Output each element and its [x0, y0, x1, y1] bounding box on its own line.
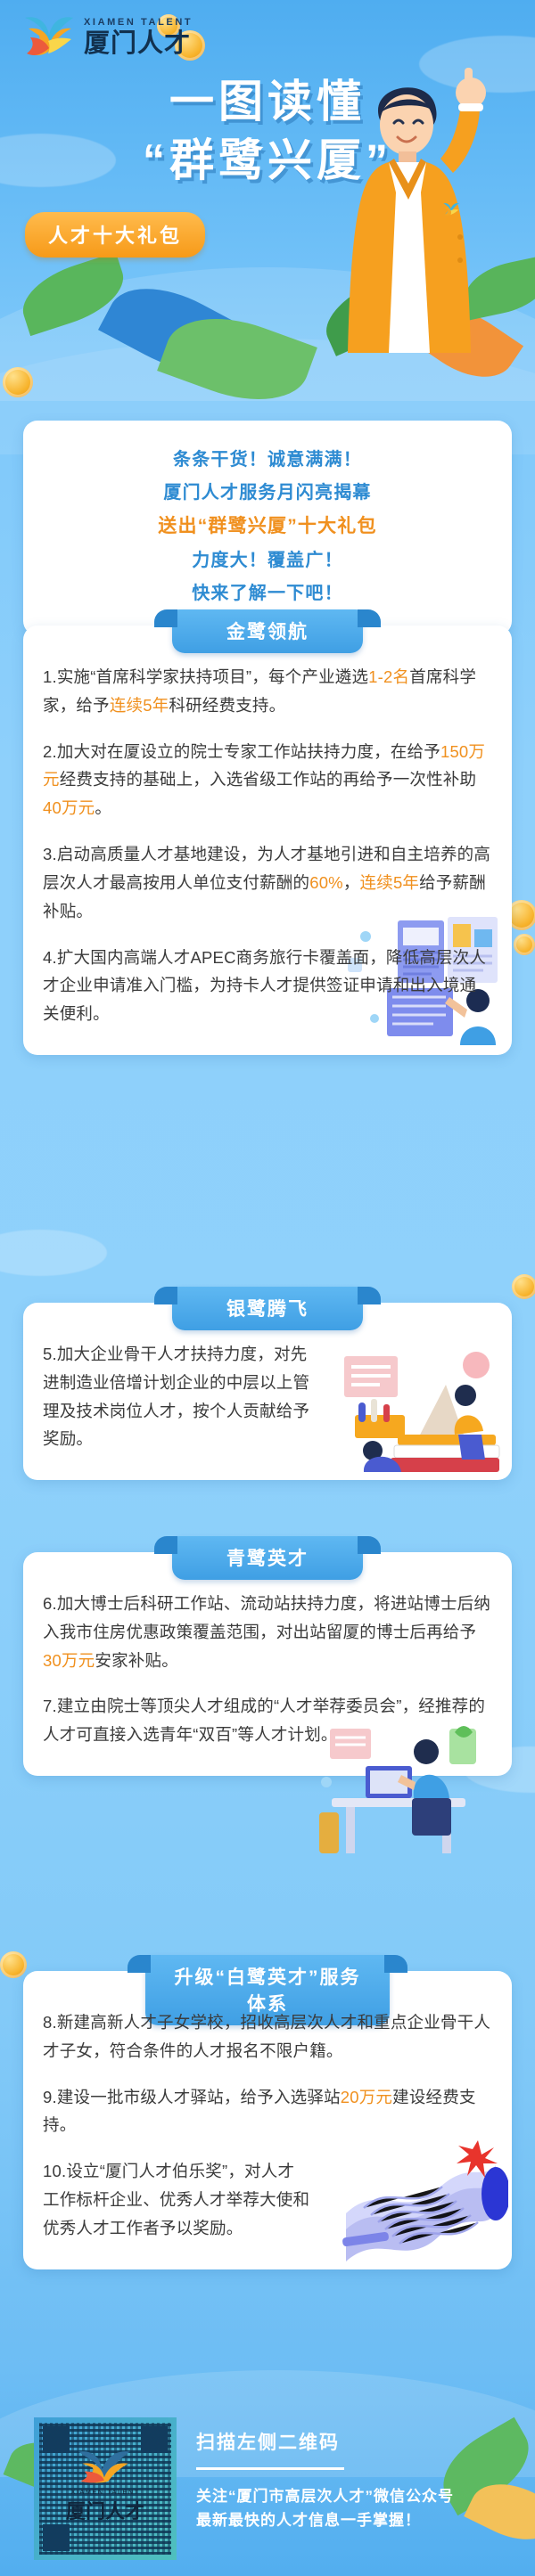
policy-item-text: 设立“厦门人才伯乐奖”，对人才工作标杆企业、优秀人才举荐大使和优秀人才工作者予以…	[43, 2162, 309, 2237]
cloud-decoration	[0, 1230, 107, 1276]
footer-line-1: 关注“厦门市高层次人才”微信公众号	[196, 2484, 454, 2508]
qr-center-logo: XIAMEN TALENT 厦门人才	[52, 2448, 159, 2524]
policy-item-text: 安家补贴。	[95, 1651, 178, 1670]
policy-item: 3.启动高质量人才基地建设，为人才基地引进和自主培养的高层次人才最高按用人单位支…	[43, 840, 492, 925]
policy-item-number: 5.	[43, 1345, 57, 1363]
coin-decoration	[514, 934, 535, 955]
policy-item-text: 新建高新人才子女学校，招收高层次人才和重点企业骨干人才子女，符合条件的人才报名不…	[43, 2013, 490, 2060]
xiamen-talent-bird-logo-icon	[21, 12, 77, 59]
footer: XIAMEN TALENT 厦门人才 扫描左侧二维码 关注“厦门市高层次人才”微…	[0, 2398, 535, 2576]
section-title: 金鹭领航	[172, 609, 363, 653]
footer-divider	[196, 2467, 344, 2470]
policy-item: 7.建立由院士等顶尖人才组成的“人才举荐委员会”，经推荐的人才可直接入选青年“双…	[43, 1692, 492, 1749]
qr-code[interactable]: XIAMEN TALENT 厦门人才	[34, 2417, 177, 2560]
coin-decoration	[3, 367, 33, 397]
qr-logo-english: XIAMEN TALENT	[52, 2488, 159, 2496]
policy-item-text: 建立由院士等顶尖人才组成的“人才举荐委员会”，经推荐的人才可直接入选青年“双百”…	[43, 1697, 485, 1744]
hero-badge: 人才十大礼包	[25, 212, 205, 258]
policy-item-number: 6.	[43, 1594, 57, 1613]
policy-item-number: 9.	[43, 2088, 57, 2106]
highlighted-value: 连续5年	[110, 696, 169, 715]
policy-item-text: 扩大国内高端人才APEC商务旅行卡覆盖面，降低高层次人才企业申请准入门槛，为持卡…	[43, 948, 486, 1024]
qr-bird-icon	[73, 2448, 137, 2483]
policy-item-text: ，	[343, 873, 360, 892]
footer-line-2: 最新最快的人才信息一手掌握！	[196, 2508, 454, 2532]
policy-item: 9.建设一批市级人才驿站，给予入选驿站20万元建设经费支持。	[43, 2083, 492, 2140]
highlighted-value: 30万元	[43, 1651, 95, 1670]
section-card: 银鹭腾飞 5.加大企业骨干人才扶持力度，对先进制造业倍增计划企业的中层以上管理及…	[23, 1303, 512, 1480]
logo-text: XIAMEN TALENT 厦门人才	[84, 14, 193, 57]
highlighted-value: 20万元	[341, 2088, 392, 2106]
logo-chinese: 厦门人才	[84, 31, 193, 57]
section-card: 升级“白鹭英才”服务体系 8.新建高新人才子女学校，招收高层次人才和重点企业骨干…	[23, 1971, 512, 2269]
intro-line-4: 力度大！覆盖广！	[41, 544, 494, 577]
coin-decoration	[512, 1274, 535, 1299]
highlighted-value: 连续5年	[360, 873, 420, 892]
highlighted-value: 1-2名	[368, 667, 409, 686]
policy-item-text: 建设一批市级人才驿站，给予入选驿站	[57, 2088, 341, 2106]
policy-item: 10.设立“厦门人才伯乐奖”，对人才工作标杆企业、优秀人才举荐大使和优秀人才工作…	[43, 2157, 310, 2242]
highlighted-value: 60%	[309, 873, 343, 892]
intro-line-3: 送出“群鹭兴厦”十大礼包	[41, 510, 494, 544]
policy-item-text: 实施“首席科学家扶持项目”，每个产业遴选	[57, 667, 368, 686]
policy-item-number: 4.	[43, 948, 57, 967]
policy-item: 5.加大企业骨干人才扶持力度，对先进制造业倍增计划企业的中层以上管理及技术岗位人…	[43, 1340, 310, 1453]
policy-item-text: 加大对在厦设立的院士专家工作站扶持力度，在给予	[57, 742, 440, 761]
section-title: 青鹭英才	[172, 1536, 363, 1580]
coin-decoration	[0, 1951, 27, 1978]
qr-eye-bottom-left	[43, 2524, 70, 2551]
policy-item-number: 2.	[43, 742, 57, 761]
person-illustration	[296, 59, 519, 357]
footer-heading: 扫描左侧二维码	[196, 2428, 454, 2455]
logo-english: XIAMEN TALENT	[84, 17, 193, 28]
policy-item: 8.新建高新人才子女学校，招收高层次人才和重点企业骨干人才子女，符合条件的人才报…	[43, 2008, 492, 2065]
policy-item-number: 1.	[43, 667, 57, 686]
policy-item: 4.扩大国内高端人才APEC商务旅行卡覆盖面，降低高层次人才企业申请准入门槛，为…	[43, 944, 492, 1028]
policy-item-number: 7.	[43, 1697, 57, 1715]
books-and-readers-illustration-icon	[332, 1345, 501, 1484]
policy-item-text: 加大企业骨干人才扶持力度，对先进制造业倍增计划企业的中层以上管理及技术岗位人才，…	[43, 1345, 309, 1448]
policy-item-text: 。	[95, 798, 111, 817]
qr-logo-chinese: 厦门人才	[52, 2496, 159, 2524]
intro-line-2: 厦门人才服务月闪亮揭幕	[41, 477, 494, 510]
footer-text: 扫描左侧二维码 关注“厦门市高层次人才”微信公众号 最新最快的人才信息一手掌握！	[196, 2428, 454, 2532]
policy-item: 1.实施“首席科学家扶持项目”，每个产业遴选1-2名首席科学家，给予连续5年科研…	[43, 663, 492, 720]
policy-item-number: 8.	[43, 2013, 57, 2032]
policy-item-text: 加大博士后科研工作站、流动站扶持力度，将进站博士后纳入我市住房优惠政策覆盖范围，…	[43, 1594, 490, 1641]
intro-line-5: 快来了解一下吧！	[41, 577, 494, 610]
policy-item-number: 3.	[43, 845, 57, 863]
policy-item: 6.加大博士后科研工作站、流动站扶持力度，将进站博士后纳入我市住房优惠政策覆盖范…	[43, 1590, 492, 1674]
qr-code-pattern: XIAMEN TALENT 厦门人才	[39, 2423, 171, 2555]
section-card: 金鹭领航 1.实施“首席科学家扶持项目”，每个产业遴选1-2名首席科学家，	[23, 626, 512, 1055]
policy-item: 2.加大对在厦设立的院士专家工作站扶持力度，在给予150万元经费支持的基础上，入…	[43, 738, 492, 822]
site-logo[interactable]: XIAMEN TALENT 厦门人才	[21, 12, 193, 59]
section-title: 银鹭腾飞	[172, 1287, 363, 1330]
policy-item-text: 科研经费支持。	[169, 696, 285, 715]
infographic-page: XIAMEN TALENT 厦门人才 一图读懂 “群鹭兴厦” 人才十大礼包	[0, 0, 535, 2576]
policy-item-number: 10.	[43, 2162, 66, 2180]
highlighted-value: 40万元	[43, 798, 95, 817]
intro-card: 条条干货！诚意满满！ 厦门人才服务月闪亮揭幕 送出“群鹭兴厦”十大礼包 力度大！…	[23, 421, 512, 635]
intro-line-1: 条条干货！诚意满满！	[41, 444, 494, 477]
policy-item-text: 经费支持的基础上，入选省级工作站的再给予一次性补助	[60, 770, 477, 789]
section-card: 青鹭英才 6.加大博士后科研工作站、流动站扶持力度，将进站博士后纳入我市住房优惠…	[23, 1552, 512, 1776]
